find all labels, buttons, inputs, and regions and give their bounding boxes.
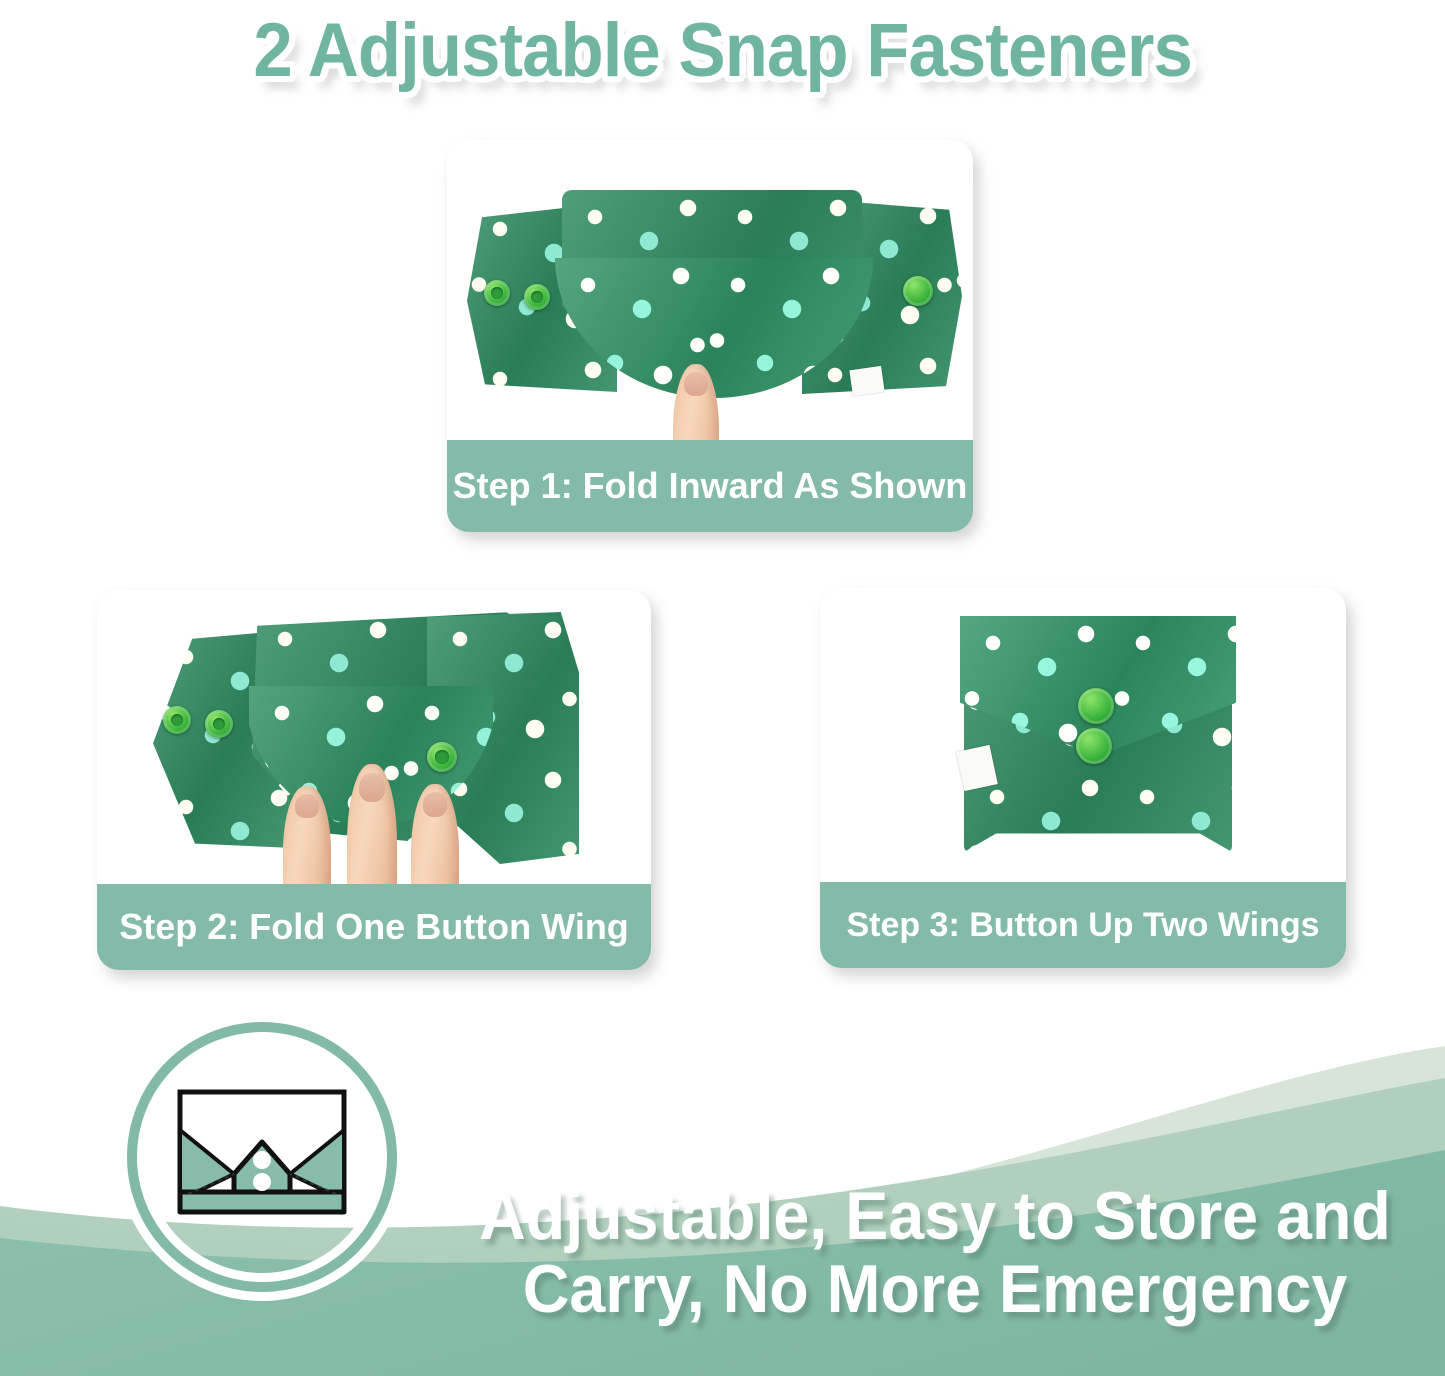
footer-tagline: Adjustable, Easy to Store and Carry, No … [479, 1180, 1391, 1327]
snap-button-left-a [163, 706, 191, 734]
step-1-caption: Step 1: Fold Inward As Shown [447, 440, 973, 532]
badge-snap-dot-top [253, 1151, 271, 1169]
folded-pouch-badge [118, 1013, 406, 1301]
snap-button-left-a [484, 280, 510, 306]
brand-care-tag [849, 366, 884, 396]
step-card-2: Step 2: Fold One Button Wing [97, 590, 651, 970]
badge-snap-dot-bottom [253, 1173, 271, 1191]
step-3-photo [820, 588, 1346, 882]
snap-button-left-b [524, 284, 550, 310]
footer-tagline-line-2: Carry, No More Emergency [479, 1253, 1391, 1326]
page-title: 2 Adjustable Snap Fasteners [253, 7, 1192, 94]
step-3-caption: Step 3: Button Up Two Wings [820, 882, 1346, 968]
folded-pouch-envelope-icon [172, 1082, 352, 1232]
step-card-3: Step 3: Button Up Two Wings [820, 588, 1346, 968]
snap-button-bottom [1076, 728, 1112, 764]
snap-button-right [427, 742, 457, 772]
snap-button-right [903, 276, 933, 306]
snap-button-top [1078, 688, 1114, 724]
snap-button-left-b [205, 710, 233, 738]
headline-banner: 2 Adjustable Snap Fasteners [0, 0, 1445, 100]
fingernail [423, 792, 448, 817]
footer-tagline-line-1: Adjustable, Easy to Store and [479, 1180, 1391, 1253]
step-2-photo [97, 590, 651, 884]
step-1-photo [447, 140, 973, 440]
step-card-1: Step 1: Fold Inward As Shown [447, 140, 973, 532]
step-2-caption: Step 2: Fold One Button Wing [97, 884, 651, 970]
fingernail [359, 773, 385, 802]
fingernail [295, 794, 320, 818]
fingernail [684, 372, 708, 396]
